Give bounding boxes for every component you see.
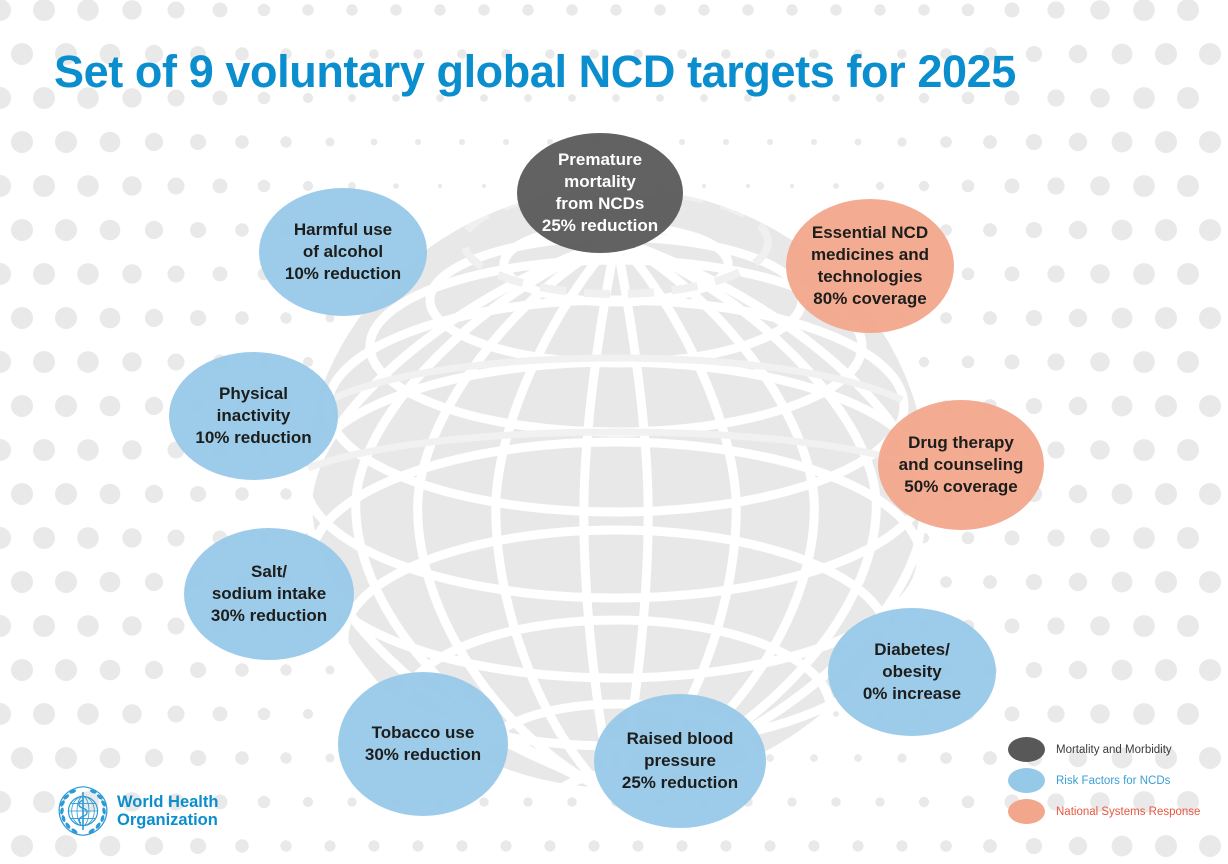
target-label: Diabetes/obesity0% increase	[834, 639, 990, 705]
target-label-line: mortality	[523, 171, 677, 193]
target-bubble-salt-sodium-intake[interactable]: Salt/sodium intake30% reduction	[184, 528, 354, 660]
who-emblem-icon	[56, 784, 110, 838]
legend-swatch-icon	[1008, 799, 1045, 824]
target-label-line: Raised blood	[600, 728, 760, 750]
target-label-line: 10% reduction	[175, 427, 332, 449]
target-bubble-diabetes-obesity[interactable]: Diabetes/obesity0% increase	[828, 608, 996, 736]
target-bubble-premature-mortality[interactable]: Prematuremortalityfrom NCDs25% reduction	[517, 133, 683, 253]
target-label: Essential NCDmedicines andtechnologies80…	[792, 222, 948, 310]
target-bubble-essential-ncd-medicines[interactable]: Essential NCDmedicines andtechnologies80…	[786, 199, 954, 333]
target-label-line: Essential NCD	[792, 222, 948, 244]
target-label-line: from NCDs	[523, 193, 677, 215]
infographic-page: Set of 9 voluntary global NCD targets fo…	[0, 0, 1228, 864]
legend-label: Risk Factors for NCDs	[1056, 775, 1170, 787]
target-bubble-raised-blood-pressure[interactable]: Raised bloodpressure25% reduction	[594, 694, 766, 828]
target-label-line: 30% reduction	[344, 744, 502, 766]
target-bubble-drug-therapy-and-counseling[interactable]: Drug therapyand counseling50% coverage	[878, 400, 1044, 530]
target-label-line: Drug therapy	[884, 432, 1038, 454]
target-label: Salt/sodium intake30% reduction	[190, 561, 348, 627]
legend: Mortality and MorbidityRisk Factors for …	[1008, 734, 1220, 827]
target-label: Physicalinactivity10% reduction	[175, 383, 332, 449]
target-label-line: 25% reduction	[523, 215, 677, 237]
target-label-line: technologies	[792, 266, 948, 288]
target-label-line: 50% coverage	[884, 476, 1038, 498]
target-label-line: medicines and	[792, 244, 948, 266]
who-logo-text: World Health Organization	[117, 793, 218, 830]
target-label-line: Salt/	[190, 561, 348, 583]
target-label-line: 0% increase	[834, 683, 990, 705]
target-bubble-tobacco-use[interactable]: Tobacco use30% reduction	[338, 672, 508, 816]
target-label-line: 30% reduction	[190, 605, 348, 627]
target-label-line: Diabetes/	[834, 639, 990, 661]
who-logo: World Health Organization	[56, 784, 218, 838]
target-label: Tobacco use30% reduction	[344, 722, 502, 766]
target-label-line: inactivity	[175, 405, 332, 427]
target-label-line: pressure	[600, 750, 760, 772]
target-label-line: of alcohol	[265, 241, 421, 263]
target-label: Prematuremortalityfrom NCDs25% reduction	[523, 149, 677, 237]
who-logo-line2: Organization	[117, 811, 218, 829]
legend-label: Mortality and Morbidity	[1056, 744, 1172, 756]
target-label-line: Physical	[175, 383, 332, 405]
target-label-line: 80% coverage	[792, 288, 948, 310]
legend-row: Risk Factors for NCDs	[1008, 765, 1220, 796]
target-bubble-physical-inactivity[interactable]: Physicalinactivity10% reduction	[169, 352, 338, 480]
target-label-line: Tobacco use	[344, 722, 502, 744]
legend-row: Mortality and Morbidity	[1008, 734, 1220, 765]
target-label: Raised bloodpressure25% reduction	[600, 728, 760, 794]
target-label: Drug therapyand counseling50% coverage	[884, 432, 1038, 498]
target-label-line: and counseling	[884, 454, 1038, 476]
legend-swatch-icon	[1008, 737, 1045, 762]
target-label: Harmful useof alcohol10% reduction	[265, 219, 421, 285]
page-title: Set of 9 voluntary global NCD targets fo…	[54, 48, 1184, 95]
target-label-line: Harmful use	[265, 219, 421, 241]
target-label-line: 25% reduction	[600, 772, 760, 794]
legend-swatch-icon	[1008, 768, 1045, 793]
target-label-line: Premature	[523, 149, 677, 171]
legend-label: National Systems Response	[1056, 806, 1200, 818]
who-logo-line1: World Health	[117, 793, 218, 811]
target-label-line: obesity	[834, 661, 990, 683]
target-label-line: sodium intake	[190, 583, 348, 605]
legend-row: National Systems Response	[1008, 796, 1220, 827]
target-label-line: 10% reduction	[265, 263, 421, 285]
target-bubble-harmful-use-of-alcohol[interactable]: Harmful useof alcohol10% reduction	[259, 188, 427, 316]
